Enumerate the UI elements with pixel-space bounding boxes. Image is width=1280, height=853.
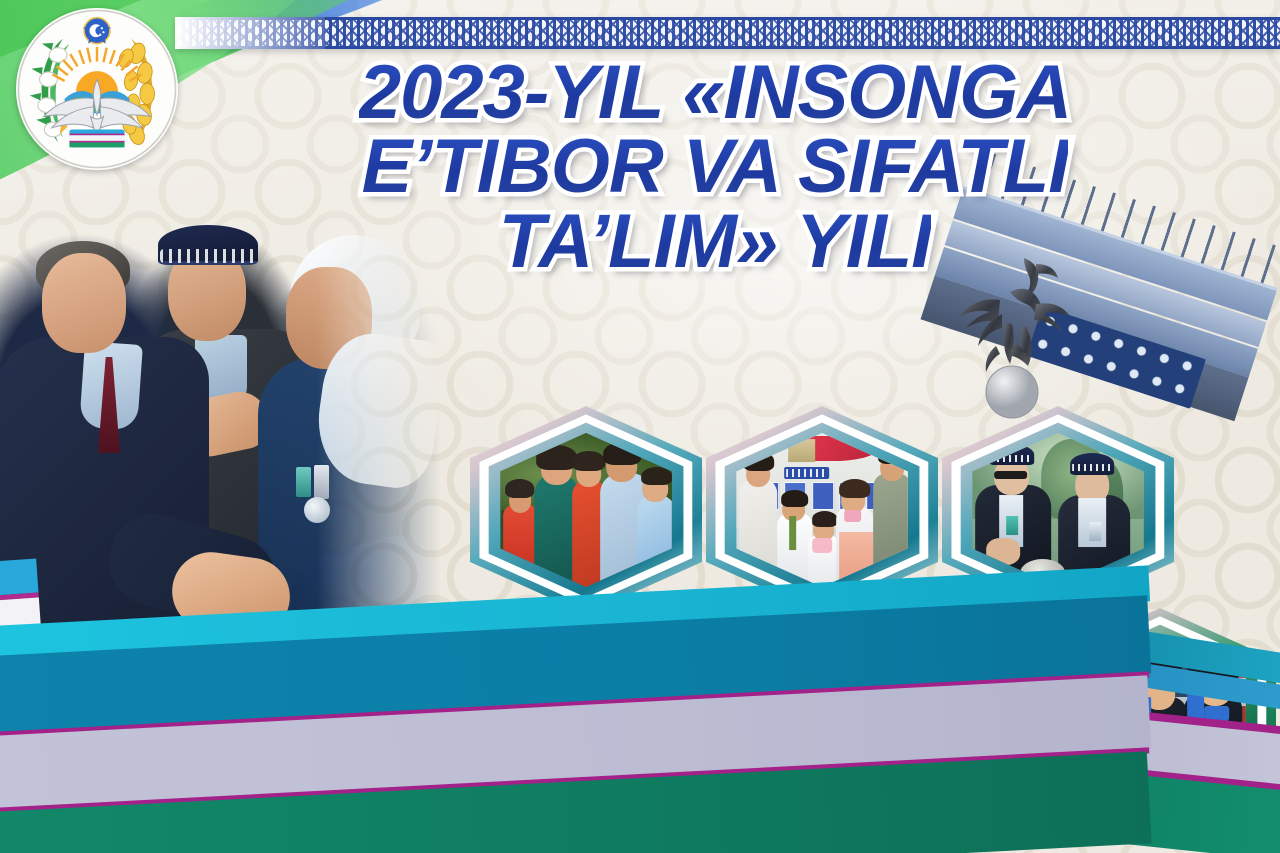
- page-title: 2023-YIL «INSONGA E’TIBOR VA SIFATLI TA’…: [185, 56, 1245, 279]
- uzbekistan-state-emblem: [16, 8, 178, 170]
- hero-medal-ribbon-2: [314, 465, 329, 499]
- title-line-2: E’TIBOR VA SIFATLI: [185, 130, 1245, 204]
- hero-medal-ribbon-1: [296, 467, 311, 497]
- title-line-1: 2023-YIL «INSONGA: [185, 56, 1245, 130]
- title-line-3: TA’LIM» YILI: [185, 205, 1245, 279]
- hero-medal-disc: [304, 497, 330, 523]
- poster-canvas: 2023-YIL «INSONGA E’TIBOR VA SIFATLI TA’…: [0, 0, 1280, 853]
- top-ornament-band: [175, 17, 1280, 49]
- ornament-x-motif: [175, 20, 1280, 46]
- ornament-band-fade: [175, 17, 325, 49]
- hero-president-head: [42, 253, 126, 353]
- uzbek-flag-ribbon-bottom: [0, 583, 1150, 853]
